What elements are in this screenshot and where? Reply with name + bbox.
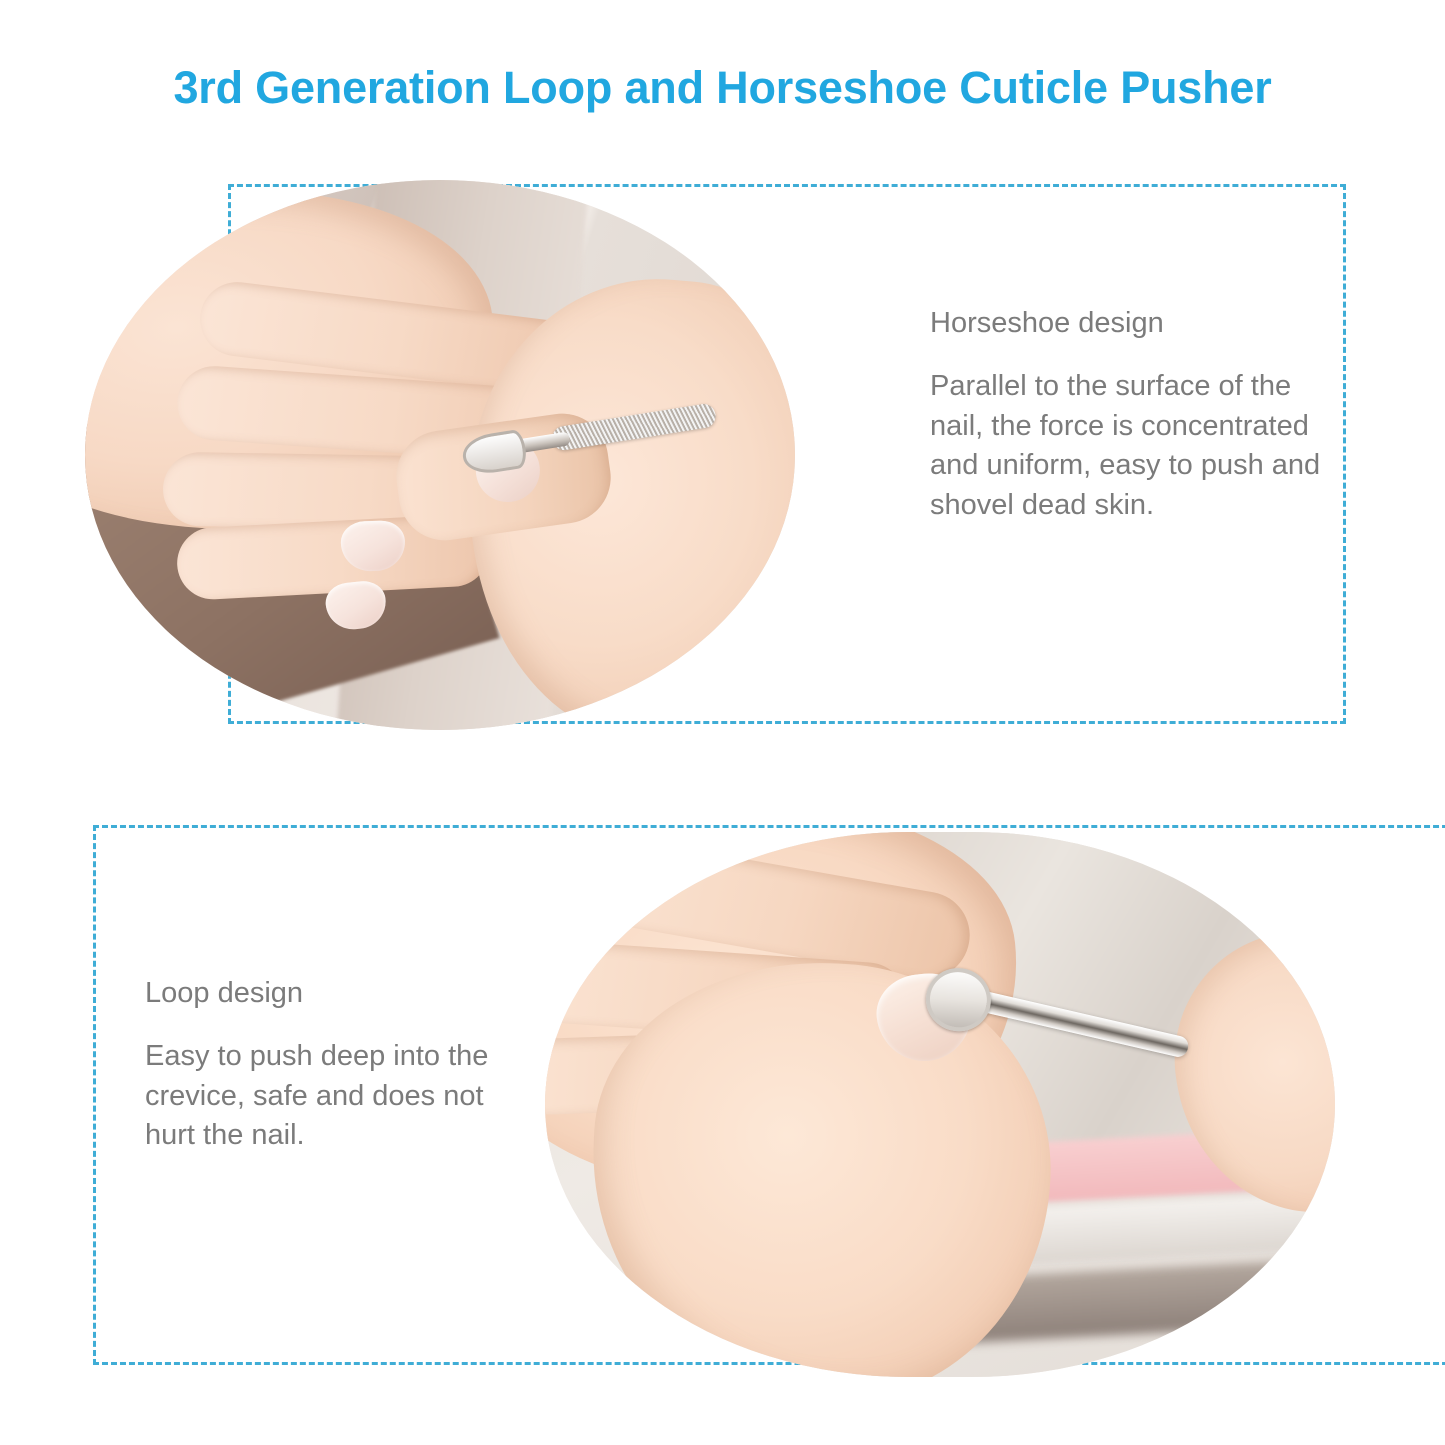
- feature-text-horseshoe: Horseshoe design Parallel to the surface…: [930, 305, 1328, 525]
- feature-text-loop: Loop design Easy to push deep into the c…: [145, 975, 517, 1156]
- photo-horseshoe-in-use: [85, 180, 795, 730]
- photo-loop-in-use: [545, 832, 1335, 1377]
- feature-heading-loop: Loop design: [145, 975, 517, 1011]
- feature-body-loop: Easy to push deep into the crevice, safe…: [145, 1037, 517, 1155]
- feature-heading-horseshoe: Horseshoe design: [930, 305, 1328, 341]
- page-title: 3rd Generation Loop and Horseshoe Cuticl…: [0, 62, 1445, 114]
- feature-body-horseshoe: Parallel to the surface of the nail, the…: [930, 367, 1328, 525]
